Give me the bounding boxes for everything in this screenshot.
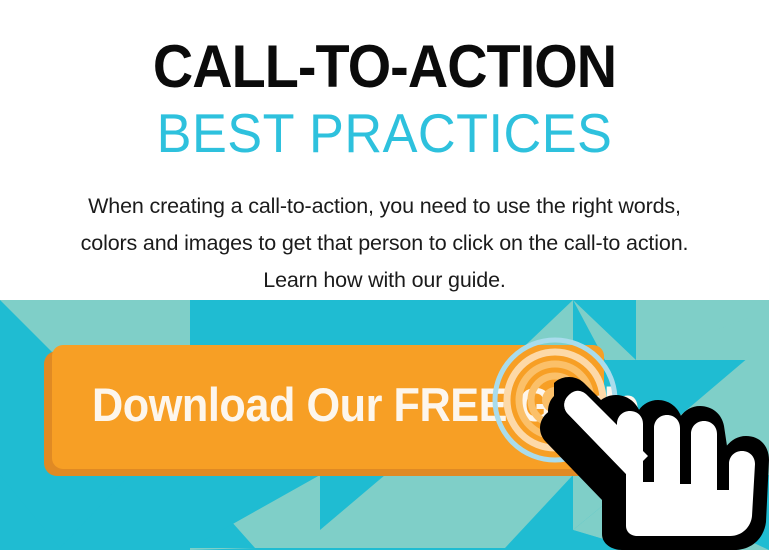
header-area: CALL-TO-ACTION BEST PRACTICES When creat… (0, 0, 769, 300)
download-cta-container[interactable]: Download Our FREE Guide (44, 345, 604, 476)
page-subheadline: BEST PRACTICES (19, 104, 750, 162)
cta-button-label: Download Our FREE Guide (92, 375, 639, 435)
body-copy: When creating a call-to-action, you need… (71, 188, 699, 299)
download-free-guide-button[interactable]: Download Our FREE Guide (52, 345, 604, 469)
page-headline: CALL-TO-ACTION (27, 36, 742, 98)
cta-banner: CALL-TO-ACTION BEST PRACTICES When creat… (0, 0, 769, 550)
